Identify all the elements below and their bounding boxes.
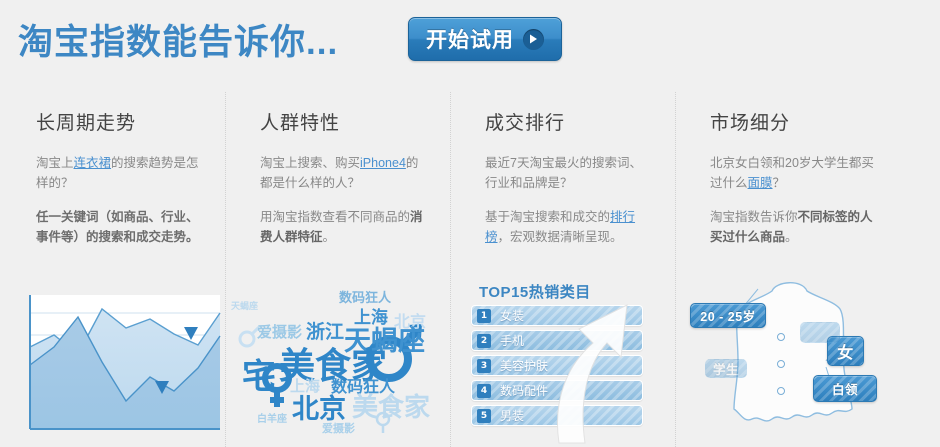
answer-pre: 用淘宝指数查看不同商品的 xyxy=(260,210,410,224)
word-cloud-term[interactable]: 美食家 xyxy=(352,387,430,424)
answer-post: 。 xyxy=(785,230,798,244)
ranking-list: 1女装2手机3美容护肤4数码配件5男装 xyxy=(471,305,643,430)
start-trial-label: 开始试用 xyxy=(426,24,514,54)
column-answer: 淘宝指数告诉你不同标签的人买过什么商品。 xyxy=(710,207,878,247)
word-cloud-term[interactable]: 天蝎座 xyxy=(231,299,258,312)
page-header: 淘宝指数能告诉你... 开始试用 xyxy=(0,0,940,90)
column-title: 成交排行 xyxy=(485,108,653,135)
rank-label: 手机 xyxy=(500,332,524,349)
feature-column-trend: 长周期走势 淘宝上连衣裙的搜索趋势是怎样的？ 任一关键词（如商品、行业、事件等）… xyxy=(0,92,225,447)
column-question: 淘宝上搜索、购买iPhone4的都是什么样的人？ xyxy=(260,153,428,193)
word-cloud-term[interactable]: 白羊座 xyxy=(257,410,287,425)
answer-pre: 淘宝指数告诉你 xyxy=(710,210,798,224)
column-title: 市场细分 xyxy=(710,108,878,135)
dress-button-dot xyxy=(777,333,785,341)
question-link[interactable]: iPhone4 xyxy=(360,156,406,170)
page-title: 淘宝指数能告诉你... xyxy=(18,14,338,65)
column-answer: 用淘宝指数查看不同商品的消费人群特征。 xyxy=(260,207,428,247)
rank-number-badge: 4 xyxy=(477,384,491,398)
play-triangle-icon xyxy=(523,29,544,50)
feature-columns: 长周期走势 淘宝上连衣裙的搜索趋势是怎样的？ 任一关键词（如商品、行业、事件等）… xyxy=(0,92,940,447)
column-title: 长周期走势 xyxy=(36,108,203,135)
question-pre: 北京女白领和20岁大学生都买过什么 xyxy=(710,156,874,190)
rank-label: 女装 xyxy=(500,307,524,324)
column-question: 淘宝上连衣裙的搜索趋势是怎样的？ xyxy=(36,153,203,193)
dress-tag[interactable]: 20 - 25岁 xyxy=(690,303,766,328)
dress-button-dot xyxy=(777,387,785,395)
dress-tag[interactable] xyxy=(800,322,840,343)
ranking-title: TOP15热销类目 xyxy=(479,281,591,302)
feature-column-segmentation: 市场细分 北京女白领和20岁大学生都买过什么面膜？ 淘宝指数告诉你不同标签的人买… xyxy=(675,92,900,447)
ranking-row[interactable]: 5男装 xyxy=(471,405,643,426)
ranking-row[interactable]: 3美容护肤 xyxy=(471,355,643,376)
word-cloud-term[interactable]: 宅 xyxy=(242,349,276,398)
rank-number-badge: 5 xyxy=(477,409,491,423)
rank-number-badge: 1 xyxy=(477,309,491,323)
dress-tag[interactable]: 白领 xyxy=(813,375,877,402)
ranking-list-figure: TOP15热销类目 1女装2手机3美容护肤4数码配件5男装 xyxy=(461,277,676,445)
answer-post: 。 xyxy=(323,230,336,244)
feature-column-ranking: 成交排行 最近7天淘宝最火的搜索词、行业和品牌是？ 基于淘宝搜索和成交的排行榜，… xyxy=(450,92,675,447)
question-link[interactable]: 连衣裙 xyxy=(74,156,112,170)
ranking-row[interactable]: 2手机 xyxy=(471,330,643,351)
column-title: 人群特性 xyxy=(260,108,428,135)
question-pre: 淘宝上搜索、购买 xyxy=(260,156,360,170)
dress-tags-figure: 20 - 25岁学生女白领 xyxy=(676,275,911,447)
question-link[interactable]: 面膜 xyxy=(748,176,773,190)
dress-tag[interactable]: 学生 xyxy=(705,359,747,378)
start-trial-button[interactable]: 开始试用 xyxy=(408,17,562,61)
word-cloud-term[interactable]: 爱摄影 xyxy=(322,420,355,436)
ranking-row[interactable]: 1女装 xyxy=(471,305,643,326)
answer-post: ，宏观数据清晰呈现。 xyxy=(498,230,623,244)
rank-number-badge: 3 xyxy=(477,359,491,373)
rank-label: 数码配件 xyxy=(500,382,548,399)
word-cloud: 数码狂人天蝎座上海北京爱摄影浙江天蝎座美食家宅上海数码狂人北京美食家白羊座爱摄影 xyxy=(226,277,451,447)
answer-pre: 基于淘宝搜索和成交的 xyxy=(485,210,610,224)
column-answer: 基于淘宝搜索和成交的排行榜，宏观数据清晰呈现。 xyxy=(485,207,653,247)
column-question: 北京女白领和20岁大学生都买过什么面膜？ xyxy=(710,153,878,193)
feature-column-audience: 人群特性 淘宝上搜索、购买iPhone4的都是什么样的人？ 用淘宝指数查看不同商… xyxy=(225,92,450,447)
rank-label: 美容护肤 xyxy=(500,357,548,374)
question-post: ？ xyxy=(773,176,786,190)
question-pre: 淘宝上 xyxy=(36,156,74,170)
column-answer: 任一关键词（如商品、行业、事件等）的搜索和成交走势。 xyxy=(36,207,203,247)
line-area-chart xyxy=(22,291,222,441)
rank-label: 男装 xyxy=(500,407,524,424)
rank-number-badge: 2 xyxy=(477,334,491,348)
dress-button-dot xyxy=(777,360,785,368)
column-question: 最近7天淘宝最火的搜索词、行业和品牌是？ xyxy=(485,153,653,193)
ranking-row[interactable]: 4数码配件 xyxy=(471,380,643,401)
